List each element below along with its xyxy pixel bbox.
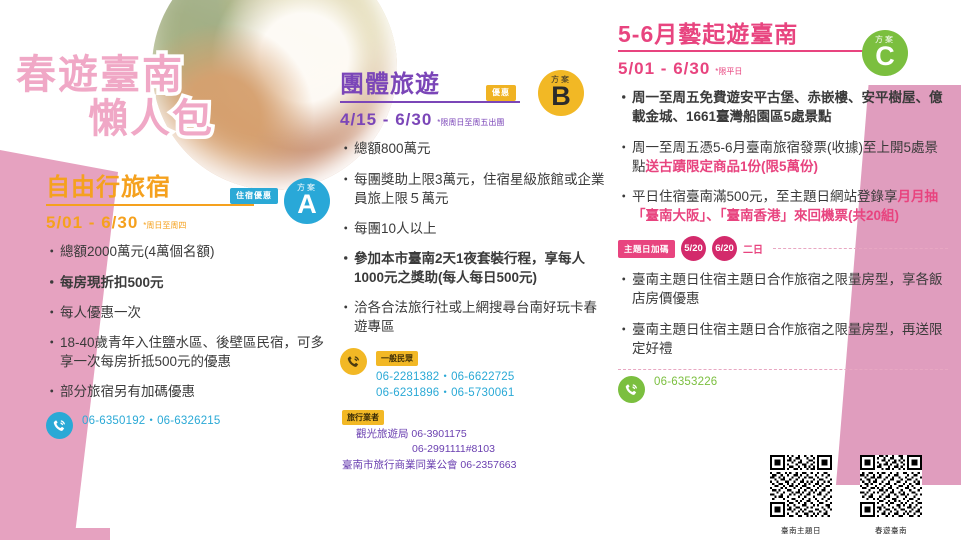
plan-a-bullet-list: 總額2000萬元(4萬個名額) 每房現折扣500元 每人優惠一次 18-40歲青… — [46, 242, 336, 401]
plan-b-contact: 一般民眾 06-2281382・06-6622725 06-6231896・06… — [340, 348, 608, 400]
plan-a-heading: 自由行旅宿 — [46, 175, 171, 201]
plan-b-contact-details: 一般民眾 06-2281382・06-6622725 06-6231896・06… — [376, 348, 514, 400]
plan-a-contact: 06-6350192・06-6326215 — [46, 412, 336, 439]
plan-b-public-label: 一般民眾 — [376, 351, 418, 366]
plan-a-phone-numbers[interactable]: 06-6350192・06-6326215 — [82, 412, 220, 428]
plan-a-section: 自由行旅宿 住宿優惠 方案 A 5/01 - 6/30 *周日至周四 總額200… — [46, 175, 336, 439]
list-item: 部分旅宿另有加碼優惠 — [46, 382, 336, 401]
plan-b-trade-line-2: 06-2991111#8103 — [356, 442, 608, 458]
plan-b-badge-letter: B — [538, 83, 584, 110]
list-item: 每房現折扣500元 — [46, 273, 336, 292]
plan-b-trade-line-1: 觀光旅遊局 06-3901175 — [356, 427, 608, 443]
list-item: 臺南主題日住宿主題日合作旅宿之限量房型，再送限定好禮 — [618, 320, 948, 358]
plan-b-bullet-list: 總額800萬元 每團獎助上限3萬元，住宿星級旅館或企業員旅上限５萬元 每團10人… — [340, 139, 608, 336]
plan-c-badge: 方案 C — [862, 30, 908, 76]
phone-ring-icon — [618, 376, 645, 403]
qr-code-caption: 臺南主題日 — [770, 525, 832, 536]
plan-c-date-note: *限平日 — [715, 66, 742, 77]
list-item: 18-40歲青年入住鹽水區、後壁區民宿，可多享一次每房折抵500元的優惠 — [46, 333, 336, 371]
plan-a-divider — [46, 204, 254, 206]
plan-b-tag: 優惠 — [486, 85, 516, 101]
list-item: 總額800萬元 — [340, 139, 608, 158]
list-item: 每團獎助上限3萬元，住宿星級旅館或企業員旅上限５萬元 — [340, 170, 608, 208]
plan-c-divider — [618, 50, 864, 52]
plan-a-badge: 方案 A — [284, 178, 330, 224]
plan-c-contact: 06-6353226 — [618, 376, 948, 403]
plan-b-trade-label: 旅行業者 — [342, 410, 384, 425]
qr-code-item[interactable]: 臺南主題日 — [770, 455, 832, 536]
list-item: 周一至周五免費遊安平古堡、赤嵌樓、安平樹屋、億載金城、1661臺灣船園區5處景點 — [618, 88, 948, 126]
plan-b-trade-block: 旅行業者 觀光旅遊局 06-3901175 06-2991111#8103 臺南… — [342, 407, 608, 474]
plan-b-date-note: *限周日至周五出團 — [437, 117, 504, 128]
plan-c-header: 5-6月藝起遊臺南 方案 C — [618, 22, 948, 52]
qr-code-icon[interactable] — [860, 455, 922, 517]
plan-b-trade-num-2[interactable]: 06-2991111#8103 — [412, 443, 495, 455]
plan-c-phone-numbers[interactable]: 06-6353226 — [654, 376, 717, 388]
theme-day-label: 主題日加碼 — [618, 240, 675, 258]
hero-title-line-1: 春遊臺南 — [16, 53, 184, 97]
list-item: 周一至周五憑5-6月臺南旅宿發票(收據)至上開5處景點送古蹟限定商品1份(限5萬… — [618, 138, 948, 176]
plan-a-tag: 住宿優惠 — [230, 188, 278, 204]
list-item: 平日住宿臺南滿500元，至主題日網站登錄享月月抽「臺南大阪」、「臺南香港」來回機… — [618, 187, 948, 225]
list-item: 每人優惠一次 — [46, 303, 336, 322]
list-item: 總額2000萬元(4萬個名額) — [46, 242, 336, 261]
plan-b-trade-line-3: 臺南市旅行商業同業公會 06-2357663 — [342, 458, 608, 474]
list-item: 每團10人以上 — [340, 219, 608, 238]
qr-code-item[interactable]: 春遊臺南 — [860, 455, 922, 536]
plan-b-public-phones-2[interactable]: 06-6231896・06-5730061 — [376, 384, 514, 400]
plan-a-badge-letter: A — [284, 191, 330, 218]
plan-b-divider — [340, 101, 520, 103]
plan-c-badge-letter: C — [862, 43, 908, 70]
list-item: 臺南主題日住宿主題日合作旅宿之限量房型，享各飯店房價優惠 — [618, 270, 948, 308]
decor-pink-bottom-strip — [0, 528, 110, 540]
plan-b-trade-org-3: 臺南市旅行商業同業公會 — [342, 459, 458, 471]
qr-code-group: 臺南主題日 — [770, 455, 922, 536]
status-badge: 6/20 — [712, 236, 737, 261]
plan-b-heading: 團體旅遊 — [340, 72, 440, 98]
theme-day-row: 主題日加碼 5/20 6/20 二日 — [618, 236, 948, 261]
plan-c-theme-bullets: 臺南主題日住宿主題日合作旅宿之限量房型，享各飯店房價優惠 臺南主題日住宿主題日合… — [618, 270, 948, 358]
divider — [618, 369, 948, 370]
list-item: 參加本市臺南2天1夜套裝行程，享每人1000元之獎助(每人每日500元) — [340, 249, 608, 287]
plan-c-heading: 5-6月藝起遊臺南 — [618, 22, 798, 47]
divider — [773, 248, 948, 249]
plan-b-trade-num-3[interactable]: 06-2357663 — [460, 459, 516, 471]
plan-c-bullet-list: 周一至周五免費遊安平古堡、赤嵌樓、安平樹屋、億載金城、1661臺灣船園區5處景點… — [618, 88, 948, 225]
plan-b-date-range: 4/15 - 6/30 — [340, 110, 432, 130]
theme-day-suffix: 二日 — [743, 241, 763, 256]
plan-b-section: 團體旅遊 優惠 方案 B 4/15 - 6/30 *限周日至周五出團 總額800… — [340, 72, 608, 474]
plan-a-header: 自由行旅宿 住宿優惠 方案 A — [46, 175, 336, 206]
qr-code-icon[interactable] — [770, 455, 832, 517]
plan-a-date-range: 5/01 - 6/30 — [46, 213, 138, 233]
phone-ring-icon — [46, 412, 73, 439]
phone-ring-icon — [340, 348, 367, 375]
status-badge: 5/20 — [681, 236, 706, 261]
plan-a-date-note: *周日至周四 — [143, 220, 186, 231]
qr-code-caption: 春遊臺南 — [860, 525, 922, 536]
page-title: 春遊臺南 懶人包 — [16, 54, 214, 140]
plan-b-trade-num-1[interactable]: 06-3901175 — [411, 428, 466, 440]
plan-c-bullet-2-highlight: 送古蹟限定商品1份(限5萬份) — [646, 159, 819, 174]
plan-b-header: 團體旅遊 優惠 方案 B — [340, 72, 608, 103]
poster-canvas: 春遊臺南 懶人包 自由行旅宿 住宿優惠 方案 A 5/01 - 6/30 *周日… — [0, 0, 961, 540]
plan-c-date-range: 5/01 - 6/30 — [618, 59, 710, 79]
list-item: 洽各合法旅行社或上網搜尋台南好玩卡春遊專區 — [340, 298, 608, 336]
plan-b-badge: 方案 B — [538, 70, 584, 116]
plan-b-public-phones-1[interactable]: 06-2281382・06-6622725 — [376, 368, 514, 384]
plan-c-section: 5-6月藝起遊臺南 方案 C 5/01 - 6/30 *限平日 周一至周五免費遊… — [618, 22, 948, 403]
plan-c-bullet-3-plain: 平日住宿臺南滿500元，至主題日網站登錄享 — [632, 189, 898, 204]
hero-title-line-2: 懶人包 — [88, 98, 214, 140]
plan-b-trade-org-1: 觀光旅遊局 — [356, 428, 409, 440]
